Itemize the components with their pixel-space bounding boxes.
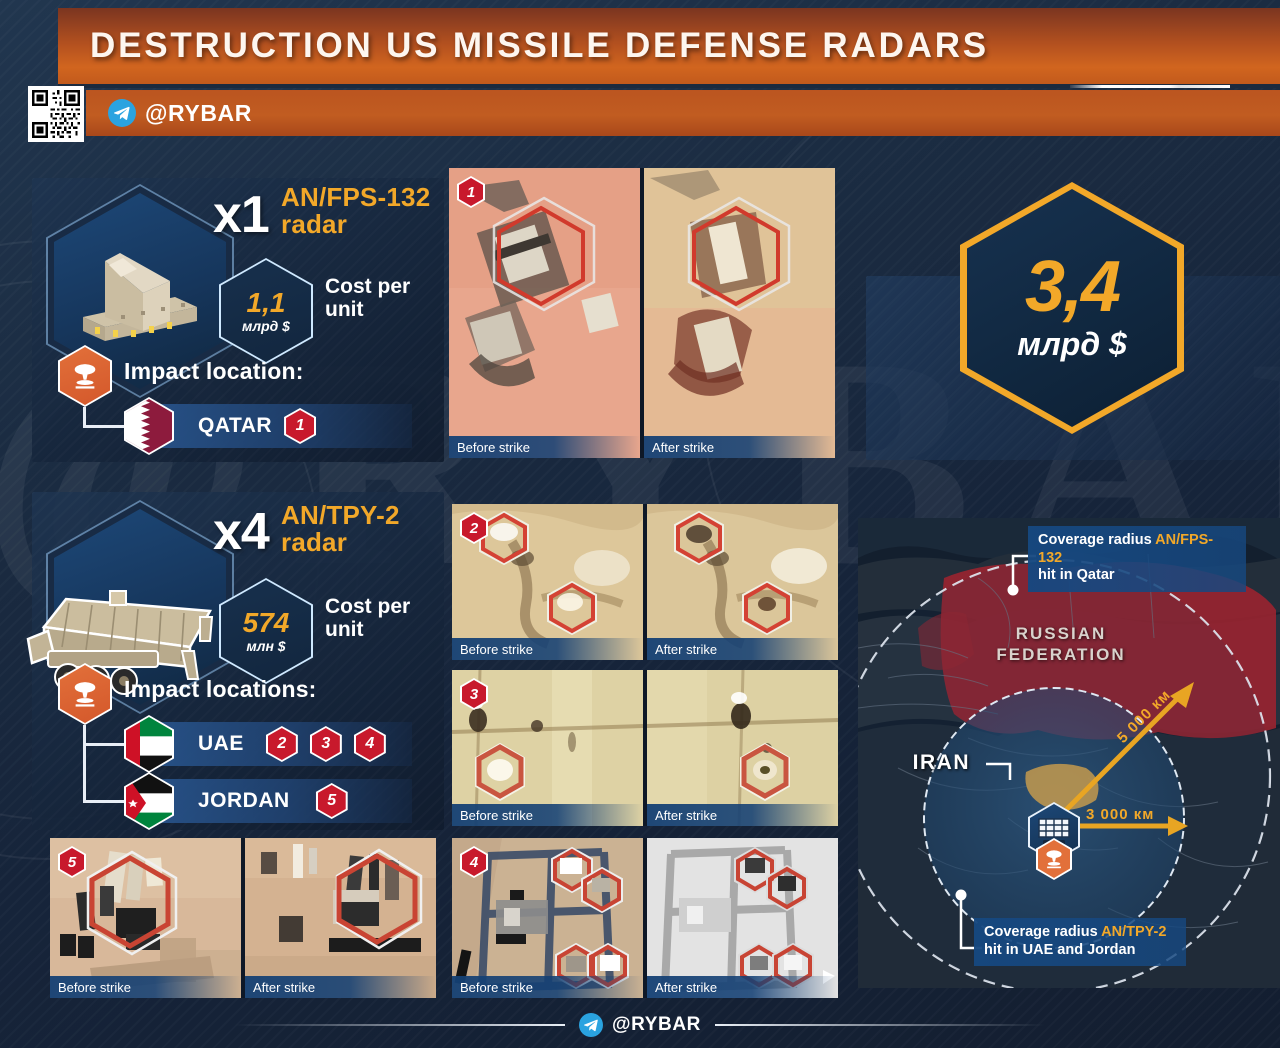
satellite-after-label-4: After strike (647, 976, 838, 998)
impact-marker-qatar-1: 1 (284, 408, 316, 444)
radar-name-line1: AN/FPS-132 (281, 182, 430, 212)
satellite-after-1[interactable]: After strike (644, 168, 835, 458)
header-bar: DESTRUCTION US MISSILE DEFENSE RADARS (58, 8, 1280, 84)
satellite-after-2[interactable]: After strike (647, 504, 838, 660)
footer-bar: @RYBAR (0, 1002, 1280, 1048)
satellite-before-label-1: Before strike (449, 436, 640, 458)
cost-label-line1: Cost per (325, 275, 410, 298)
impact-connector-1b (83, 425, 125, 428)
telegram-icon (108, 99, 136, 127)
impact-location-name-jordan: JORDAN (198, 789, 290, 813)
impact-location-row-uae[interactable]: UAE 2 3 4 (140, 722, 412, 766)
cost-label-1: Cost per unit (325, 276, 410, 321)
telegram-badge[interactable]: @RYBAR (108, 99, 252, 127)
map-range-inner-label: 3 000 км (1086, 806, 1154, 823)
satellite-before-label-3: Before strike (452, 804, 643, 826)
impact-marker-uae-3: 3 (310, 726, 342, 762)
cost-label-2: Cost per unit (325, 596, 410, 641)
satellite-before-1[interactable]: 1 Before strike (449, 168, 640, 458)
satellite-before-label-2: Before strike (452, 638, 643, 660)
satellite-after-label-1: After strike (644, 436, 835, 458)
radar-name-2-line1: AN/TPY-2 (281, 500, 400, 530)
satellite-before-2[interactable]: 2 Before strike (452, 504, 643, 660)
header-rule (58, 84, 1280, 88)
footer-rule-left (235, 1024, 565, 1026)
satellite-after-label-5: After strike (245, 976, 436, 998)
satellite-before-label-5: Before strike (50, 976, 241, 998)
radar-name-2: AN/TPY-2 radar (281, 502, 400, 556)
satellite-before-4[interactable]: 4 Before strike (452, 838, 643, 998)
satellite-group-5: 5 Before strike After strike (50, 838, 436, 998)
total-cost-currency: млрд $ (1017, 326, 1127, 363)
footer-telegram-badge[interactable]: @RYBAR (579, 1013, 701, 1037)
cost-label-2-line1: Cost per (325, 595, 410, 618)
impact-connector-2 (83, 725, 86, 803)
cost-currency-2: млн $ (246, 638, 285, 654)
cost-currency-1: млрд $ (242, 318, 290, 334)
map-country-label: RUSSIAN FEDERATION (996, 623, 1126, 666)
impact-marker-uae-2: 2 (266, 726, 298, 762)
page-title: DESTRUCTION US MISSILE DEFENSE RADARS (90, 26, 989, 66)
footer-channel-handle: @RYBAR (612, 1014, 701, 1036)
cost-label-line2: unit (325, 298, 363, 321)
satellite-after-5[interactable]: After strike (245, 838, 436, 998)
impact-connector-1 (83, 407, 86, 427)
satellite-group-4: 4 Before strike After s (452, 838, 838, 998)
map-chip-fps132-prefix: Coverage radius (1038, 532, 1155, 548)
map-iran-label: IRAN (913, 751, 970, 775)
satellite-group-1: 1 Before strike After strike (449, 168, 835, 458)
impact-location-row-jordan[interactable]: JORDAN 5 (140, 779, 412, 823)
nuclear-explosion-icon (70, 679, 100, 709)
telegram-icon (579, 1013, 603, 1037)
qr-code-icon[interactable] (28, 86, 84, 142)
radar-name-1: AN/FPS-132 radar (281, 184, 430, 238)
nuclear-explosion-icon (1043, 848, 1065, 870)
footer-rule-right (715, 1024, 1045, 1026)
cost-value-2: 574 (243, 609, 290, 637)
satellite-before-5[interactable]: 5 Before strike (50, 838, 241, 998)
map-chip-tpy2-line2: hit in UAE and Jordan (984, 942, 1135, 958)
map-chip-tpy2: Coverage radius AN/TPY-2 hit in UAE and … (974, 918, 1186, 966)
satellite-group-2: 2 Before strike After strike (452, 504, 838, 660)
coverage-map: IRAN RUSSIAN FEDERATION 5 000 км 3 000 к… (858, 518, 1280, 988)
cost-value-1: 1,1 (247, 289, 286, 317)
channel-bar: @RYBAR (86, 90, 1280, 136)
map-chip-tpy2-prefix: Coverage radius (984, 924, 1101, 940)
an-fps-132-illustration (65, 231, 215, 351)
map-chip-fps132-line2: hit in Qatar (1038, 567, 1115, 583)
radar-count-2: x4 (213, 502, 269, 562)
satellite-after-label-2: After strike (647, 638, 838, 660)
impact-title-1: Impact location: (124, 358, 304, 385)
satellite-before-3[interactable]: 3 Before strike (452, 670, 643, 826)
total-cost-value: 3,4 (1025, 253, 1119, 321)
satellite-before-label-4: Before strike (452, 976, 643, 998)
channel-handle: @RYBAR (145, 100, 252, 127)
impact-location-row-qatar[interactable]: QATAR 1 (140, 404, 412, 448)
radar-name-2-line2: radar (281, 527, 347, 557)
impact-marker-jordan-5: 5 (316, 783, 348, 819)
satellite-after-label-3: After strike (647, 804, 838, 826)
satellite-after-3[interactable]: After strike (647, 670, 838, 826)
radar-count-1: x1 (213, 185, 269, 245)
impact-connector-2b (83, 800, 125, 803)
impact-title-2: Impact locations: (124, 676, 317, 703)
nuclear-explosion-icon (70, 361, 100, 391)
impact-location-name-qatar: QATAR (198, 414, 272, 438)
cost-label-2-line2: unit (325, 618, 363, 641)
impact-connector-2a (83, 743, 125, 746)
map-chip-tpy2-highlight: AN/TPY-2 (1101, 924, 1166, 940)
satellite-after-4[interactable]: After strike (647, 838, 838, 998)
satellite-group-3: 3 Before strike After strike (452, 670, 838, 826)
impact-location-name-uae: UAE (198, 732, 244, 756)
total-cost-caption-1: Total cost damaged (866, 402, 1280, 431)
map-chip-fps132: Coverage radius AN/FPS-132 hit in Qatar (1028, 526, 1246, 592)
impact-marker-uae-4: 4 (354, 726, 386, 762)
total-cost-caption-2: US missile defense radars (866, 432, 1280, 461)
radar-name-line2: radar (281, 209, 347, 239)
